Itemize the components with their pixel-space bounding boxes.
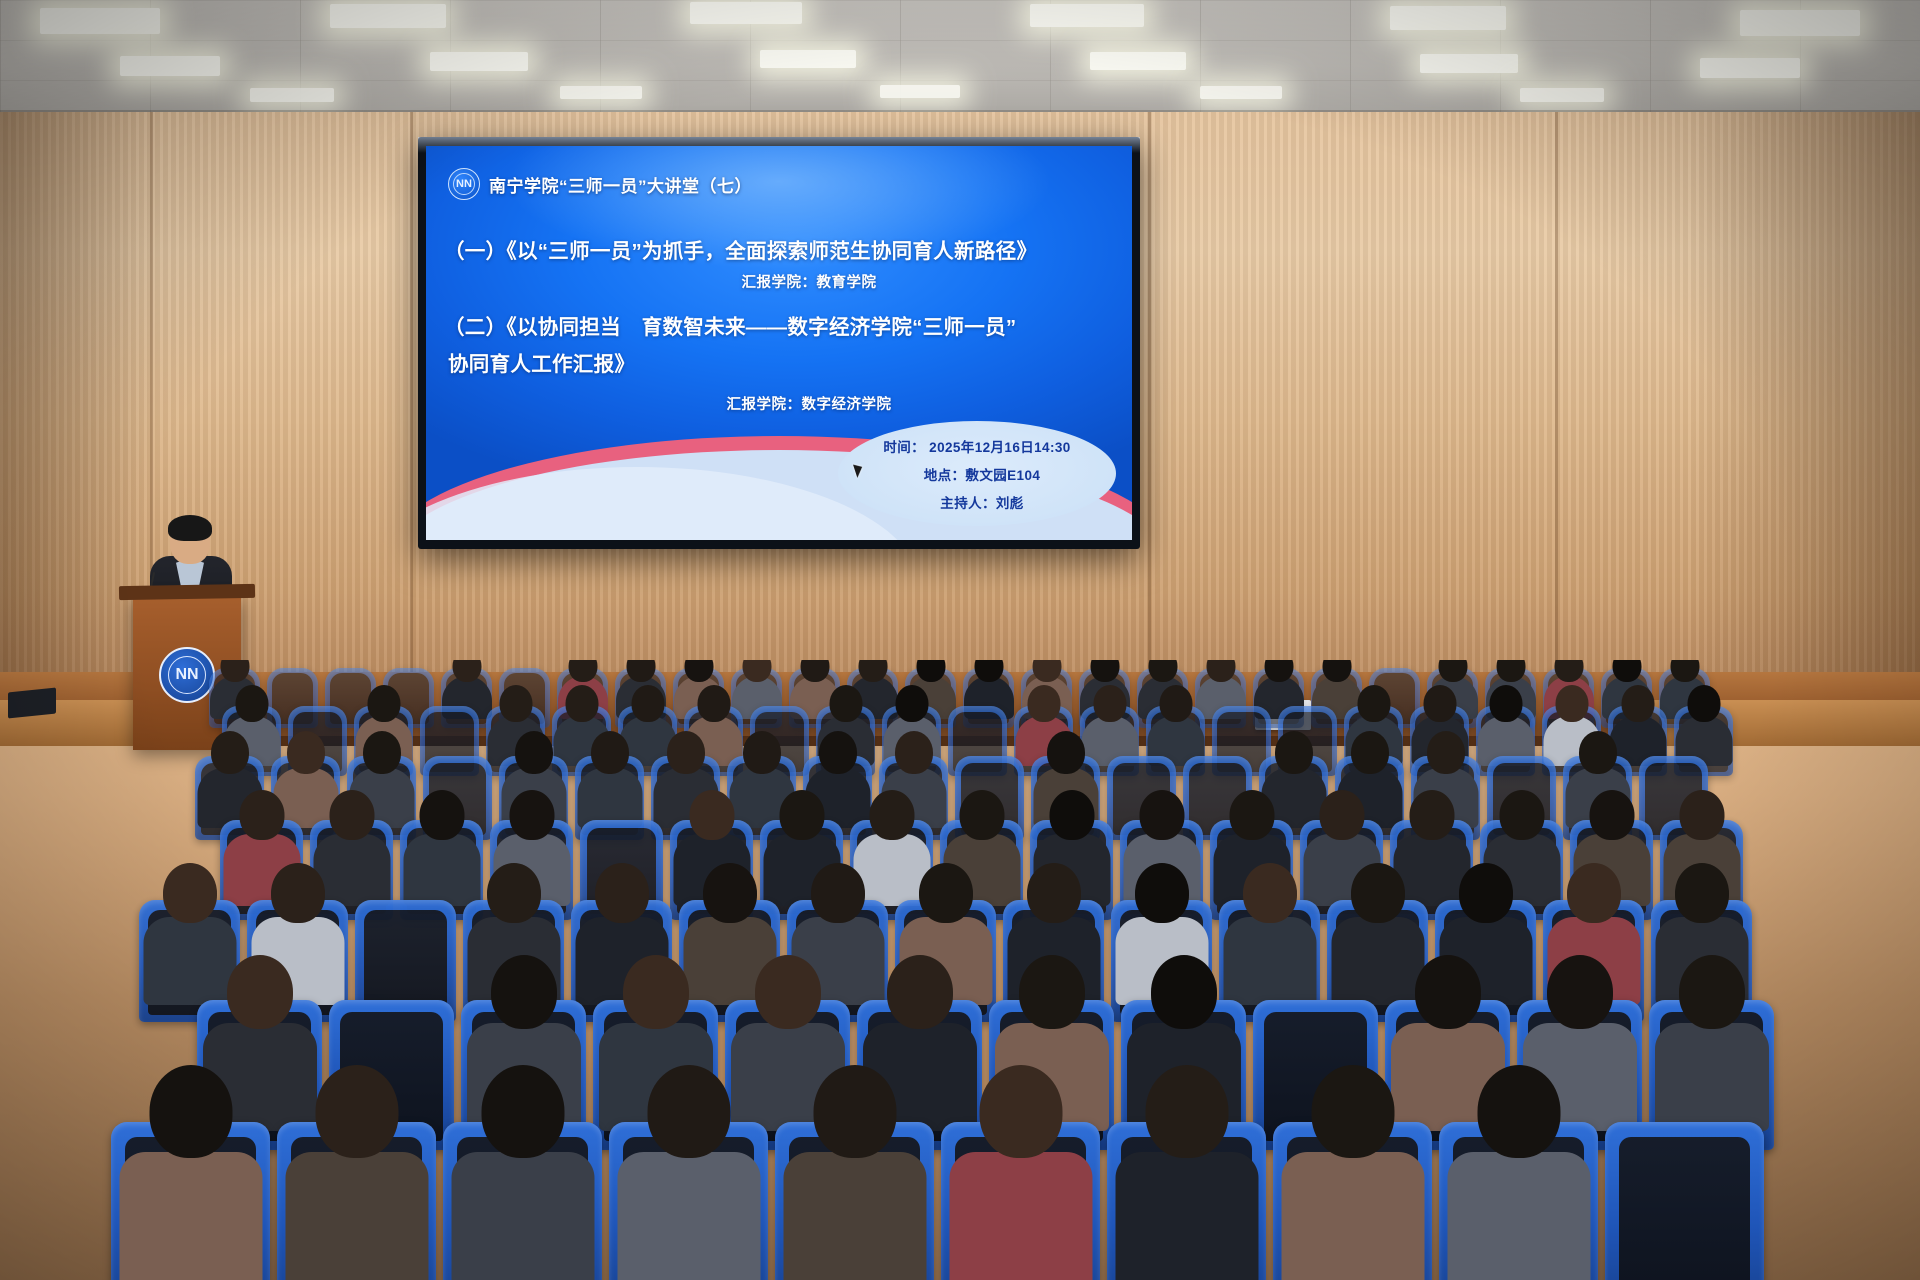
audience-member-head	[1590, 790, 1635, 840]
audience-member-head	[1027, 863, 1081, 923]
ceiling-light	[1030, 4, 1144, 27]
ceiling-light	[560, 86, 642, 99]
audience-member-head	[1556, 685, 1589, 722]
audience-member-head	[163, 863, 217, 923]
ceiling-light	[760, 50, 856, 68]
ceiling-light	[40, 8, 160, 34]
audience-member-head	[236, 685, 269, 722]
university-logo-icon: NN	[448, 168, 480, 200]
lecture-hall-photo: NN 南宁学院“三师一员”大讲堂（七） （一）《以“三师一员”为抓手，全面探索师…	[0, 0, 1920, 1280]
audience-member-head	[1351, 731, 1389, 774]
audience-member-body	[120, 1152, 263, 1280]
slide-header-title: 南宁学院“三师一员”大讲堂（七）	[489, 172, 752, 197]
audience-member-head	[150, 1065, 233, 1158]
audience-member-body	[452, 1152, 595, 1280]
audience-member-head	[1424, 685, 1457, 722]
audience-member-head	[1312, 1065, 1395, 1158]
slide-body: （一）《以“三师一员”为抓手，全面探索师范生协同育人新路径》 汇报学院：教育学院…	[426, 234, 1132, 414]
audience-member-head	[1478, 1065, 1561, 1158]
audience-member-body	[144, 917, 237, 1005]
audience-member-head	[240, 790, 285, 840]
ceiling-light	[1520, 88, 1604, 102]
audience-member-head	[482, 1065, 565, 1158]
audience-member-head	[780, 790, 825, 840]
slide-info-time: 时间： 2025年12月16日14:30	[883, 436, 1070, 456]
audience-member-head	[1622, 685, 1655, 722]
wall-seam	[1555, 112, 1558, 672]
audience-member-head	[1160, 685, 1193, 722]
ceiling-light	[1390, 6, 1506, 30]
audience-member-body	[1448, 1152, 1591, 1280]
audience-member-head	[667, 731, 705, 774]
audience-member-head	[287, 731, 325, 774]
audience-member-head	[510, 790, 555, 840]
speaker-hair	[168, 515, 212, 541]
audience-member-head	[743, 731, 781, 774]
audience-member-body	[286, 1152, 429, 1280]
ceiling-light	[250, 88, 334, 102]
audience-member-head	[870, 790, 915, 840]
audience-member-body	[1116, 1152, 1259, 1280]
audience-member-head	[271, 863, 325, 923]
audience-member-head	[632, 685, 665, 722]
audience-member-head	[1047, 731, 1085, 774]
audience-member-head	[1427, 731, 1465, 774]
audience-member-head	[830, 685, 863, 722]
audience-member-head	[363, 731, 401, 774]
slide-header: NN 南宁学院“三师一员”大讲堂（七）	[448, 168, 752, 200]
slide-item-2-title-line2: 协同育人工作汇报》	[426, 347, 1132, 377]
audience-member-head	[690, 790, 735, 840]
audience-member-body	[784, 1152, 927, 1280]
ceiling-light	[1090, 52, 1186, 70]
audience-member-head	[1679, 955, 1745, 1029]
audience-member-head	[500, 685, 533, 722]
audience-member-head	[595, 863, 649, 923]
audience-member-head	[227, 955, 293, 1029]
audience-member-head	[1135, 863, 1189, 923]
audience-member-head	[887, 955, 953, 1029]
audience-member-head	[1547, 955, 1613, 1029]
audience-member-head	[1351, 863, 1405, 923]
audience-member-head	[1688, 685, 1721, 722]
audience-member-body	[1332, 917, 1425, 1005]
projection-screen[interactable]: NN 南宁学院“三师一员”大讲堂（七） （一）《以“三师一员”为抓手，全面探索师…	[426, 146, 1132, 540]
audience-member-head	[566, 685, 599, 722]
audience-area	[0, 660, 1920, 1280]
audience-member-body	[1224, 917, 1317, 1005]
audience-member-head	[1410, 790, 1455, 840]
audience-member-head	[1459, 863, 1513, 923]
audience-member-head	[1019, 955, 1085, 1029]
audience-member-body	[404, 834, 481, 906]
audience-member-head	[811, 863, 865, 923]
audience-member-head	[1358, 685, 1391, 722]
ceiling-light	[330, 4, 446, 28]
audience-member-head	[515, 731, 553, 774]
slide-item-1-title: （一）《以“三师一员”为抓手，全面探索师范生协同育人新路径》	[426, 234, 1132, 264]
audience-member-head	[1675, 863, 1729, 923]
audience-member-head	[1490, 685, 1523, 722]
wall-shadow-right	[1690, 112, 1920, 672]
audience-member-head	[919, 863, 973, 923]
audience-member-head	[491, 955, 557, 1029]
auditorium-seat	[1605, 1122, 1764, 1280]
audience-member-body	[1655, 1023, 1769, 1131]
ceiling-light	[1200, 86, 1282, 99]
audience-member-head	[648, 1065, 731, 1158]
ceiling-light	[120, 56, 220, 76]
audience-member-head	[420, 790, 465, 840]
projection-screen-frame: NN 南宁学院“三师一员”大讲堂（七） （一）《以“三师一员”为抓手，全面探索师…	[418, 137, 1140, 549]
audience-member-head	[1500, 790, 1545, 840]
wall-seam	[1148, 112, 1151, 672]
slide-item-2-title-line1: （二）《以协同担当 育数智未来——数字经济学院“三师一员”	[426, 310, 1132, 340]
audience-member-head	[1243, 863, 1297, 923]
slide-item-1-reporter: 汇报学院：教育学院	[426, 271, 1132, 292]
audience-member-head	[1050, 790, 1095, 840]
ceiling-light	[1420, 54, 1518, 73]
ceiling-panel-grid	[0, 0, 1920, 120]
audience-member-head	[980, 1065, 1063, 1158]
audience-member-head	[487, 863, 541, 923]
wall-seam	[410, 112, 413, 672]
audience-member-head	[895, 731, 933, 774]
audience-member-head	[698, 685, 731, 722]
audience-member-head	[623, 955, 689, 1029]
ceiling-light	[880, 85, 960, 98]
seat-cushion	[1619, 1137, 1749, 1280]
audience-member-head	[1151, 955, 1217, 1029]
university-logo-glyph: NN	[453, 173, 475, 195]
seat-cushion	[364, 910, 447, 1015]
audience-member-head	[330, 790, 375, 840]
slide-info-bubble: 时间： 2025年12月16日14:30 地点：敷文园E104 主持人：刘彪	[838, 421, 1116, 526]
podium-top	[119, 584, 255, 600]
audience-member-body	[950, 1152, 1093, 1280]
audience-member-head	[896, 685, 929, 722]
ceiling-light	[690, 2, 802, 24]
audience-member-head	[1275, 731, 1313, 774]
ceiling-light	[1700, 58, 1800, 78]
audience-member-head	[1230, 790, 1275, 840]
audience-member-body	[314, 834, 391, 906]
audience-member-body	[618, 1152, 761, 1280]
audience-member-head	[1579, 731, 1617, 774]
audience-member-head	[1140, 790, 1185, 840]
audience-member-head	[1094, 685, 1127, 722]
slide-item-2-reporter: 汇报学院：数字经济学院	[426, 393, 1132, 414]
audience-member-head	[1320, 790, 1365, 840]
audience-member-head	[755, 955, 821, 1029]
audience-member-head	[1028, 685, 1061, 722]
slide-info-place: 地点：敷文园E104	[914, 464, 1041, 484]
audience-member-head	[819, 731, 857, 774]
audience-member-head	[960, 790, 1005, 840]
audience-member-head	[1146, 1065, 1229, 1158]
ceiling	[0, 0, 1920, 120]
audience-member-body	[1282, 1152, 1425, 1280]
ceiling-light	[430, 52, 528, 71]
audience-member-head	[368, 685, 401, 722]
audience-member-head	[814, 1065, 897, 1158]
audience-member-body	[578, 768, 643, 828]
audience-member-head	[1680, 790, 1725, 840]
audience-member-head	[703, 863, 757, 923]
ceiling-light	[1740, 10, 1860, 36]
audience-member-head	[1415, 955, 1481, 1029]
audience-member-head	[211, 731, 249, 774]
audience-member-head	[591, 731, 629, 774]
slide-info-host: 主持人：刘彪	[930, 492, 1023, 512]
audience-member-head	[1567, 863, 1621, 923]
audience-member-head	[316, 1065, 399, 1158]
